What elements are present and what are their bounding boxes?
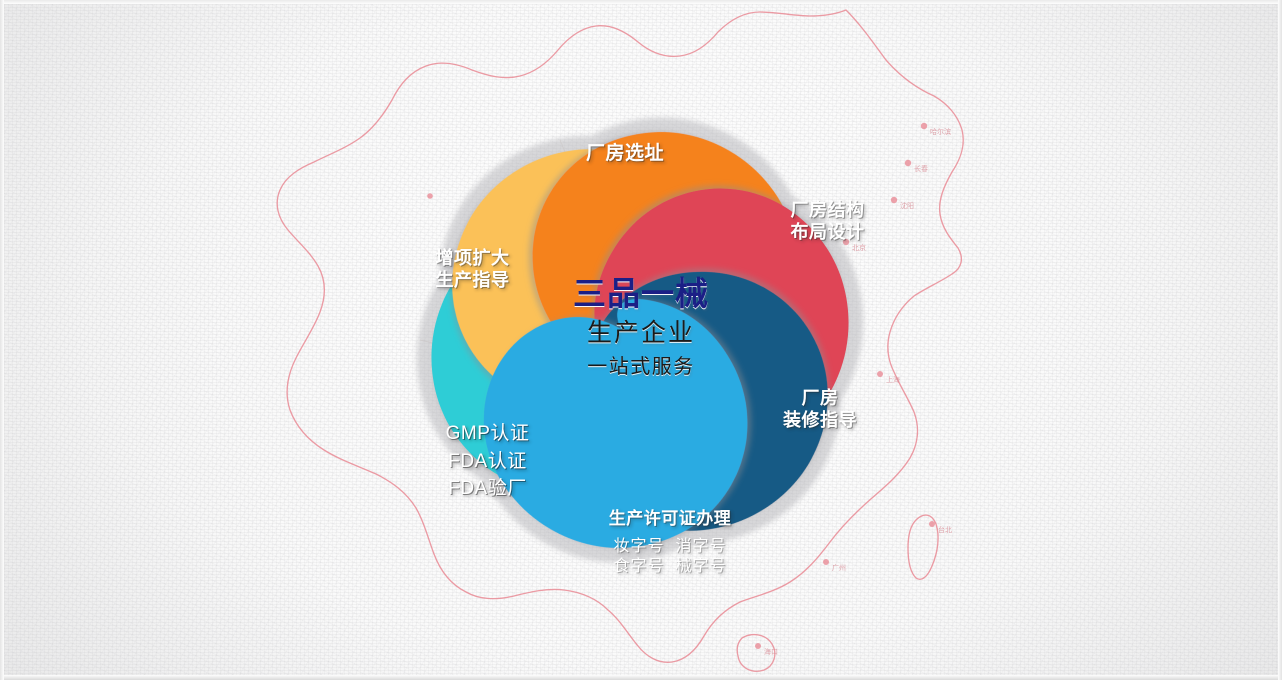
petal-group bbox=[405, 84, 876, 597]
svg-text:哈尔滨: 哈尔滨 bbox=[930, 127, 951, 136]
canvas-edge-bottom bbox=[0, 675, 1282, 680]
infographic-canvas: 哈尔滨 长春 沈阳 北京 郑州 上海 武汉 广州 台北 海口 bbox=[0, 0, 1282, 680]
pinwheel-diagram bbox=[352, 52, 928, 628]
canvas-edge-right bbox=[1278, 0, 1282, 680]
canvas-edge-top bbox=[0, 0, 1282, 4]
svg-text:台北: 台北 bbox=[938, 525, 952, 534]
svg-text:海口: 海口 bbox=[764, 647, 778, 656]
canvas-edge-left bbox=[0, 0, 4, 680]
